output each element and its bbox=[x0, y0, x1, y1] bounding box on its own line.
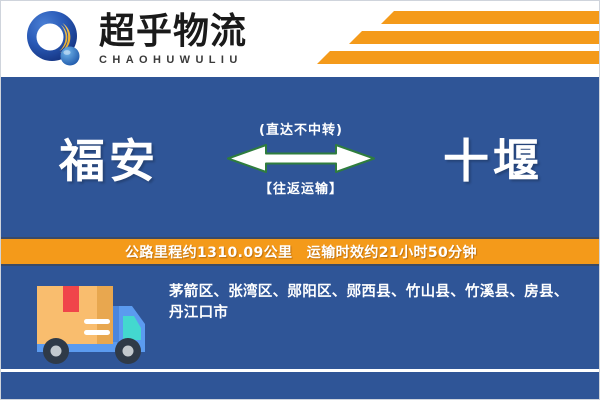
coverage-districts-text: 茅箭区、张湾区、郧阳区、郧西县、竹山县、竹溪县、房县、丹江口市 bbox=[169, 282, 581, 324]
route-arrow-block: (直达不中转) 【往返运输】 bbox=[212, 119, 390, 197]
header-stripes bbox=[291, 9, 600, 69]
stripe-2-icon bbox=[349, 31, 600, 44]
logistics-route-banner: 超乎物流 CHAOHUWULIU 福安 (直达不中转) 【往返运输】 十堰 公路… bbox=[0, 0, 600, 400]
brand-logo: 超乎物流 CHAOHUWULIU bbox=[25, 9, 247, 71]
stripe-3-icon bbox=[317, 51, 600, 64]
origin-city: 福安 bbox=[59, 125, 159, 191]
route-note-direct: (直达不中转) bbox=[212, 119, 390, 138]
coverage-panel: 茅箭区、张湾区、郧阳区、郧西县、竹山县、竹溪县、房县、丹江口市 bbox=[1, 266, 600, 400]
logo-svg bbox=[25, 9, 87, 71]
bottom-divider bbox=[1, 369, 600, 372]
stripe-1-icon bbox=[381, 11, 600, 24]
brand-name-cn: 超乎物流 bbox=[99, 14, 247, 51]
brand-text-block: 超乎物流 CHAOHUWULIU bbox=[99, 14, 247, 66]
truck-svg bbox=[27, 280, 155, 372]
double-headed-arrow-icon bbox=[226, 141, 376, 175]
route-note-roundtrip: 【往返运输】 bbox=[212, 178, 390, 197]
circle-swoosh-logo-icon bbox=[25, 9, 87, 71]
banner-header: 超乎物流 CHAOHUWULIU bbox=[1, 1, 600, 77]
brand-name-en: CHAOHUWULIU bbox=[99, 54, 247, 66]
destination-city: 十堰 bbox=[443, 125, 543, 191]
distance-duration-bar: 公路里程约1310.09公里 运输时效约21小时50分钟 bbox=[1, 237, 600, 266]
delivery-truck-icon bbox=[27, 280, 155, 377]
route-panel: 福安 (直达不中转) 【往返运输】 十堰 bbox=[1, 80, 600, 235]
distance-duration-text: 公路里程约1310.09公里 运输时效约21小时50分钟 bbox=[125, 242, 477, 262]
